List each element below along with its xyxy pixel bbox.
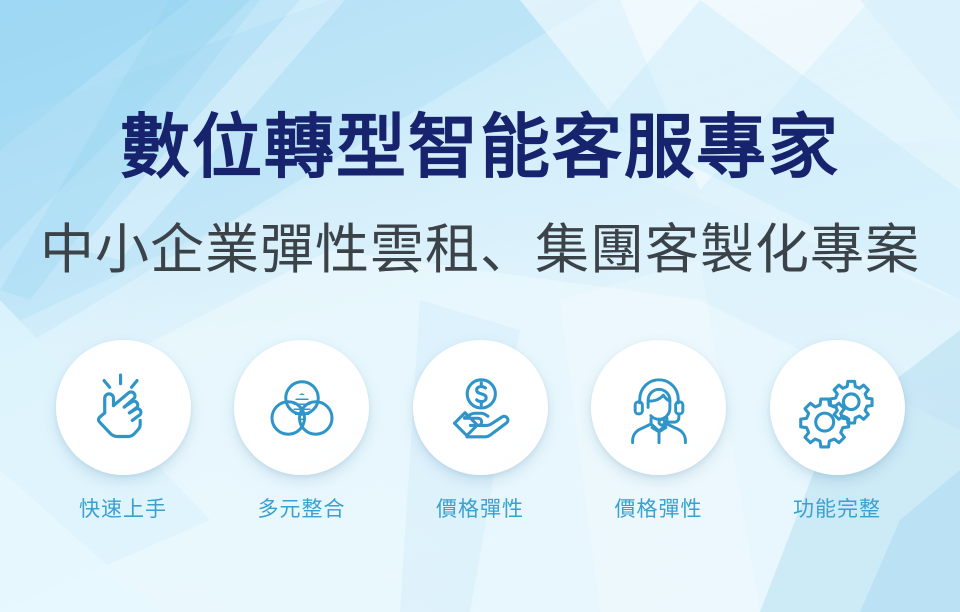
page-subtitle: 中小企業彈性雲租、集團客製化專案 xyxy=(0,217,960,283)
feature-label: 價格彈性 xyxy=(436,497,524,523)
feature-icon-badge xyxy=(413,340,548,475)
feature-item-full-features[interactable]: 功能完整 xyxy=(762,340,912,523)
feature-item-quick-start[interactable]: 快速上手 xyxy=(48,340,198,523)
feature-icon-badge xyxy=(770,340,905,475)
feature-label: 快速上手 xyxy=(79,497,167,523)
headset-agent-icon xyxy=(618,367,700,449)
gears-icon xyxy=(796,367,878,449)
hand-holding-coin-icon xyxy=(439,367,521,449)
click-hand-icon xyxy=(84,369,162,447)
feature-item-price-flexibility-1[interactable]: 價格彈性 xyxy=(405,340,555,523)
feature-label: 多元整合 xyxy=(258,497,346,523)
feature-icon-badge xyxy=(56,340,191,475)
feature-icon-badge xyxy=(591,340,726,475)
feature-label: 價格彈性 xyxy=(615,497,703,523)
feature-item-integration[interactable]: 多元整合 xyxy=(227,340,377,523)
venn-diagram-icon xyxy=(262,368,342,448)
marketing-banner: 數位轉型智能客服專家 中小企業彈性雲租、集團客製化專案 快速上手 xyxy=(0,0,960,612)
feature-label: 功能完整 xyxy=(793,497,881,523)
page-title: 數位轉型智能客服專家 xyxy=(0,104,960,190)
feature-icon-badge xyxy=(234,340,369,475)
feature-item-price-flexibility-2[interactable]: 價格彈性 xyxy=(584,340,734,523)
feature-list: 快速上手 xyxy=(48,340,912,523)
